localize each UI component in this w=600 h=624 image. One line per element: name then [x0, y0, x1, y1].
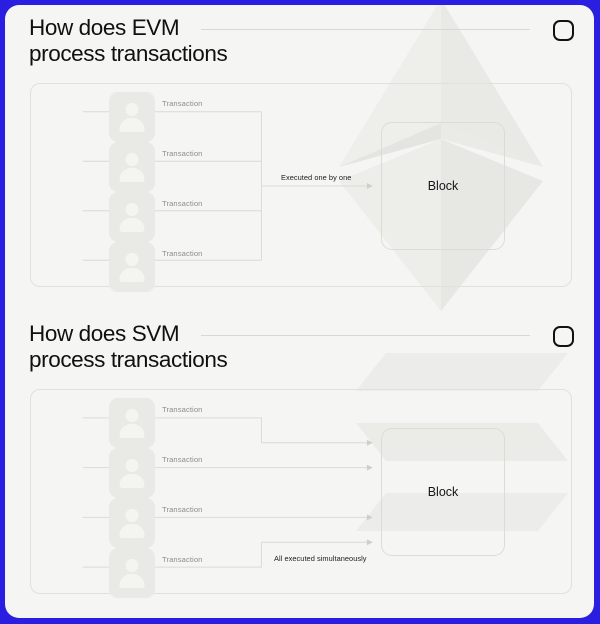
evm-flow-diagram: Transaction Transaction: [31, 84, 571, 286]
avatar-body: [120, 168, 145, 182]
arrow-head: [367, 440, 373, 446]
section-svm-header: How does SVM process transactions: [29, 325, 574, 381]
avatar-body: [120, 424, 145, 438]
avatar-head: [126, 253, 139, 266]
header-divider-line: [201, 335, 530, 336]
section-evm-header: How does EVM process transactions: [29, 19, 574, 75]
avatar-head: [126, 559, 139, 572]
user-avatar-icon: [109, 92, 155, 142]
block-node: Block: [381, 428, 505, 556]
list-item: Transaction: [109, 548, 284, 598]
svm-diagram-panel: Transaction Transaction: [30, 389, 572, 594]
list-item: Transaction: [109, 448, 284, 498]
user-avatar-icon: [109, 498, 155, 548]
rounded-square-outline-icon[interactable]: [553, 326, 574, 347]
transaction-label: Transaction: [162, 405, 203, 414]
transaction-label: Transaction: [162, 505, 203, 514]
avatar-head: [126, 153, 139, 166]
list-item: Transaction: [109, 142, 284, 192]
transaction-label: Transaction: [162, 149, 203, 158]
user-avatar-icon: [109, 142, 155, 192]
transaction-label: Transaction: [162, 555, 203, 564]
header-divider-line: [201, 29, 530, 30]
transaction-label: Transaction: [162, 455, 203, 464]
avatar-head: [126, 409, 139, 422]
rounded-square-outline-icon[interactable]: [553, 20, 574, 41]
transaction-label: Transaction: [162, 199, 203, 208]
block-node: Block: [381, 122, 505, 250]
avatar-body: [120, 574, 145, 588]
user-avatar-icon: [109, 398, 155, 448]
arrow-head: [367, 465, 373, 471]
arrow-head: [367, 514, 373, 520]
arrow-head: [367, 539, 373, 545]
avatar-body: [120, 524, 145, 538]
user-avatar-icon: [109, 192, 155, 242]
list-item: Transaction: [109, 498, 284, 548]
list-item: Transaction: [109, 398, 284, 448]
avatar-body: [120, 218, 145, 232]
transaction-label: Transaction: [162, 249, 203, 258]
avatar-body: [120, 268, 145, 282]
flow-label-executed-one-by-one: Executed one by one: [281, 173, 351, 182]
user-avatar-icon: [109, 448, 155, 498]
transaction-label: Transaction: [162, 99, 203, 108]
svm-flow-diagram: Transaction Transaction: [31, 390, 571, 593]
page-title: How does SVM process transactions: [29, 321, 227, 373]
avatar-body: [120, 118, 145, 132]
avatar-body: [120, 474, 145, 488]
list-item: Transaction: [109, 192, 284, 242]
list-item: Transaction: [109, 242, 284, 292]
list-item: Transaction: [109, 92, 284, 142]
user-avatar-icon: [109, 242, 155, 292]
arrow-head: [367, 183, 373, 189]
avatar-head: [126, 509, 139, 522]
avatar-head: [126, 459, 139, 472]
evm-diagram-panel: Transaction Transaction: [30, 83, 572, 287]
slide-canvas: How does EVM process transactions: [5, 5, 594, 618]
page-title: How does EVM process transactions: [29, 15, 227, 67]
avatar-head: [126, 103, 139, 116]
flow-label-all-executed-simultaneously: All executed simultaneously: [274, 554, 367, 563]
section-evm: How does EVM process transactions: [5, 5, 594, 311]
avatar-head: [126, 203, 139, 216]
user-avatar-icon: [109, 548, 155, 598]
section-svm: How does SVM process transactions: [5, 311, 594, 618]
slide-frame: How does EVM process transactions: [0, 0, 600, 624]
